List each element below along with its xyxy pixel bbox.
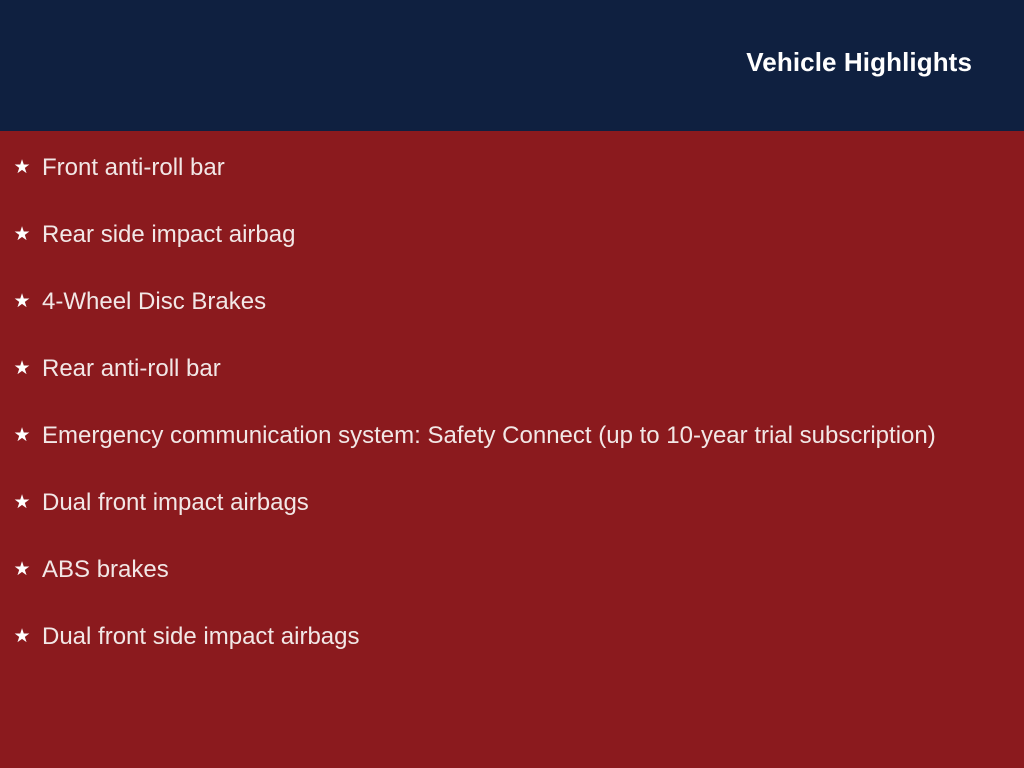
star-bullet-icon: ★ [12, 216, 32, 253]
list-item: ★ Rear side impact airbag [0, 216, 1024, 253]
list-item-label: Dual front side impact airbags [42, 618, 964, 655]
list-item: ★ Emergency communication system: Safety… [0, 417, 1024, 454]
slide-body: ★ Front anti-roll bar ★ Rear side impact… [0, 131, 1024, 768]
list-item: ★ 4-Wheel Disc Brakes [0, 283, 1024, 320]
list-item-label: Rear side impact airbag [42, 216, 964, 253]
star-bullet-icon: ★ [12, 149, 32, 186]
list-item: ★ ABS brakes [0, 551, 1024, 588]
list-item-label: Rear anti-roll bar [42, 350, 964, 387]
list-item-label: Dual front impact airbags [42, 484, 964, 521]
list-item: ★ Rear anti-roll bar [0, 350, 1024, 387]
list-item-label: ABS brakes [42, 551, 964, 588]
list-item: ★ Front anti-roll bar [0, 149, 1024, 186]
list-item-label: Front anti-roll bar [42, 149, 964, 186]
list-item-label: 4-Wheel Disc Brakes [42, 283, 964, 320]
page-title: Vehicle Highlights [746, 46, 972, 78]
list-item: ★ Dual front side impact airbags [0, 618, 1024, 655]
list-item: ★ Dual front impact airbags [0, 484, 1024, 521]
star-bullet-icon: ★ [12, 551, 32, 588]
star-bullet-icon: ★ [12, 283, 32, 320]
star-bullet-icon: ★ [12, 417, 32, 454]
vehicle-highlights-slide: Vehicle Highlights ★ Front anti-roll bar… [0, 0, 1024, 768]
list-item-label: Emergency communication system: Safety C… [42, 417, 964, 454]
star-bullet-icon: ★ [12, 484, 32, 521]
star-bullet-icon: ★ [12, 618, 32, 655]
star-bullet-icon: ★ [12, 350, 32, 387]
vehicle-highlights-list: ★ Front anti-roll bar ★ Rear side impact… [0, 149, 1024, 655]
slide-header-bar: Vehicle Highlights [0, 0, 1024, 131]
